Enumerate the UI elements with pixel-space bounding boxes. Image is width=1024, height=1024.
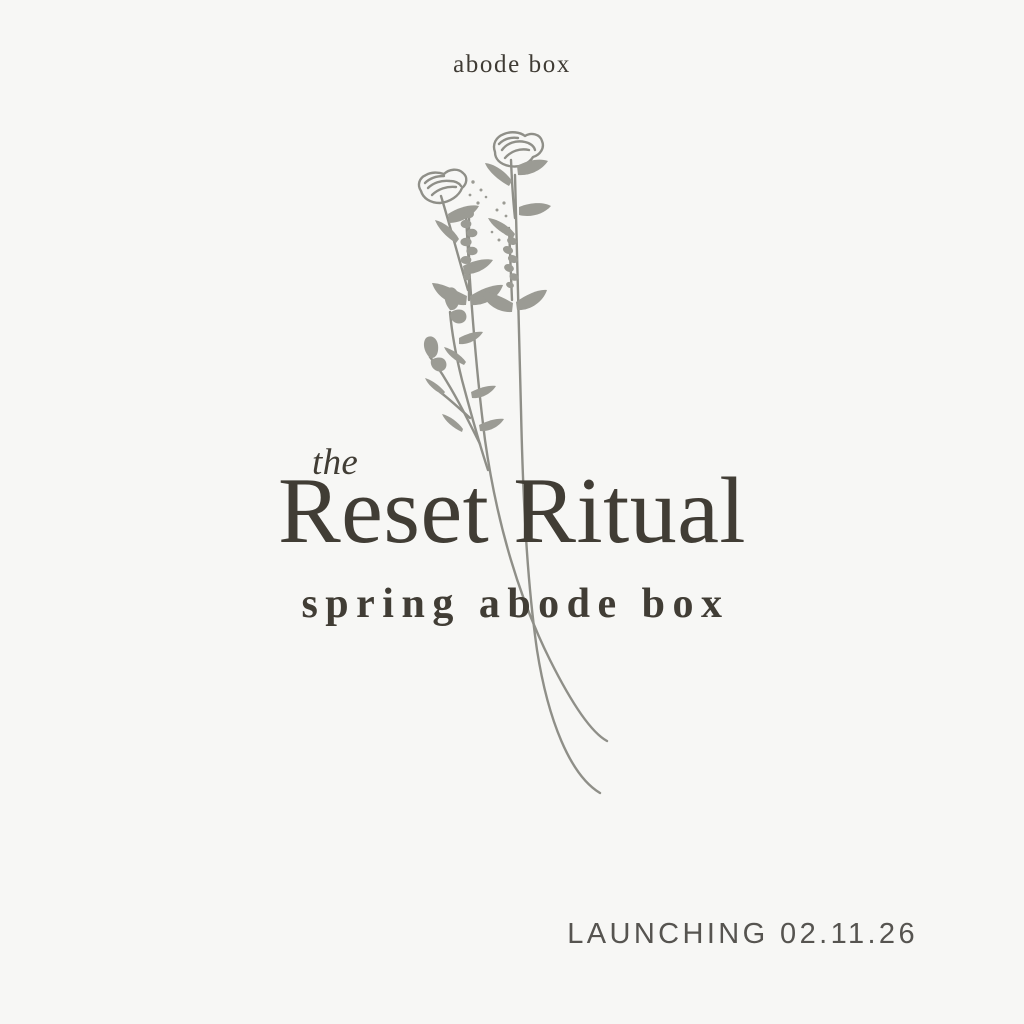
brand-header: abode box [0, 52, 1024, 77]
headline-subtitle: spring abode box [0, 558, 1024, 625]
headline-block: the Reset Ritual spring abode box [0, 438, 1024, 625]
headline-title: Reset Ritual [0, 438, 1024, 558]
poster-canvas: abode box [0, 0, 1024, 1024]
brand-name: abode box [0, 52, 1024, 77]
launch-footer: LAUNCHING 02.11.26 [567, 920, 918, 949]
launch-date-label: LAUNCHING 02.11.26 [567, 920, 918, 949]
headline-eyebrow: the [312, 444, 358, 481]
